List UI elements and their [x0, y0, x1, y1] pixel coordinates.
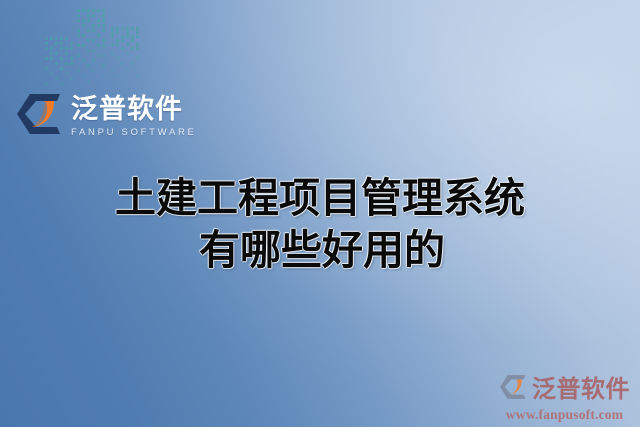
brand-name-cn: 泛普软件	[71, 96, 197, 123]
promo-banner: 泛普软件 FANPU SOFTWARE 土建工程项目管理系统 有哪些好用的 泛普…	[0, 0, 640, 427]
watermark-brand-row: 泛普软件	[499, 374, 630, 405]
watermark-url: www.fanpusoft.com	[499, 408, 630, 422]
pixel-buildings-graphic	[44, 0, 154, 92]
site-watermark: 泛普软件 www.fanpusoft.com	[499, 374, 630, 422]
fanpu-logo-mark-icon	[16, 92, 62, 141]
brand-logo-text: 泛普软件 FANPU SOFTWARE	[71, 96, 197, 138]
brand-name-en: FANPU SOFTWARE	[71, 128, 197, 138]
brand-logo-lockup: 泛普软件 FANPU SOFTWARE	[16, 92, 197, 141]
fanpu-watermark-logo-icon	[499, 374, 527, 405]
page-title-line-2: 有哪些好用的	[0, 224, 640, 276]
watermark-brand-name: 泛普软件	[532, 377, 630, 401]
page-title-line-1: 土建工程项目管理系统	[0, 172, 640, 224]
page-title: 土建工程项目管理系统 有哪些好用的	[0, 172, 640, 277]
